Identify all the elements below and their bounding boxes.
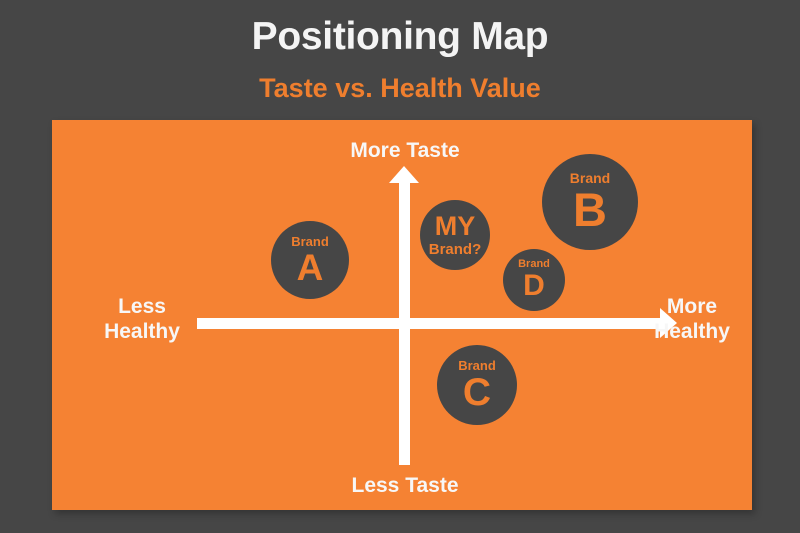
brand-bubble-a-label: Brand	[291, 235, 329, 248]
brand-bubble-my[interactable]: MY Brand?	[420, 200, 490, 270]
brand-bubble-d-value: D	[523, 271, 545, 301]
brand-bubble-a[interactable]: Brand A	[271, 221, 349, 299]
arrow-up-icon	[389, 166, 419, 183]
brand-bubble-c-label: Brand	[458, 359, 496, 372]
brand-bubble-b[interactable]: Brand B	[542, 154, 638, 250]
brand-bubble-b-value: B	[573, 186, 607, 233]
brand-bubble-my-value: MY	[435, 213, 476, 240]
axis-label-more-taste: More Taste	[305, 138, 505, 163]
axis-label-more-healthy: More Healthy	[622, 294, 762, 344]
brand-bubble-my-label: Brand?	[429, 242, 482, 257]
figure-header: Positioning Map Taste vs. Health Value	[0, 0, 800, 120]
axis-label-less-taste: Less Taste	[305, 473, 505, 498]
brand-bubble-c-value: C	[463, 373, 491, 412]
map-panel: More Taste Less Taste Less Healthy More …	[52, 120, 752, 510]
brand-bubble-a-value: A	[297, 249, 324, 286]
brand-bubble-c[interactable]: Brand C	[437, 345, 517, 425]
positioning-map-figure: Positioning Map Taste vs. Health Value M…	[0, 0, 800, 533]
brand-bubble-d[interactable]: Brand D	[503, 249, 565, 311]
horizontal-axis-line	[197, 318, 662, 329]
axis-label-less-healthy: Less Healthy	[72, 294, 212, 344]
page-title: Positioning Map	[0, 14, 800, 60]
page-subtitle: Taste vs. Health Value	[0, 72, 800, 104]
